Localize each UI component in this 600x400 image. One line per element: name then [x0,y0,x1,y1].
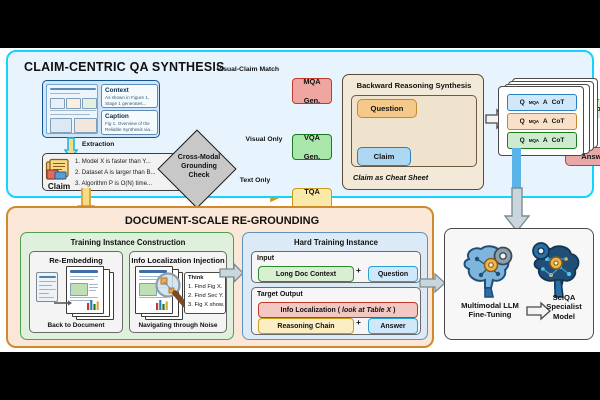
extraction-label: Extraction [82,141,114,148]
re-embedding-title: Re-Embedding [30,256,122,265]
source-document-card: Context As shown in Figure 1, Stage 1 ge… [42,80,160,138]
qa-to-model-arrow-icon [504,188,530,232]
document-thumbnail [46,84,98,134]
qa-stack-front-sheet: QMQA A CoT QMQA A CoT QMQA A CoT [498,86,584,156]
target-output-box: Target Output Info Localization ( look a… [251,287,421,335]
qa-q-subscript: MQA [529,100,539,105]
chip-answer[interactable]: Answer [368,318,418,334]
hard-training-instance-box: Hard Training Instance Input Long Doc Co… [242,232,428,340]
chip-info-localization[interactable]: Info Localization ( look at Table X ) [258,302,418,318]
model-left-line1: Multimodal LLM [461,301,519,310]
re-embedding-link-arrow [54,300,76,306]
chip-long-doc-context[interactable]: Long Doc Context [258,266,354,282]
cross-modal-grounding-check: Cross-Modal Grounding Check [160,132,238,210]
mqa-line2: Gen. [303,96,320,105]
training-instance-construction-box: Training Instance Construction Re-Embedd… [20,232,234,340]
decision-line-3: Check [188,172,209,179]
qa-a: A [543,137,548,144]
qa-cot: CoT [552,99,565,106]
training-instance-construction-title: Training Instance Construction [21,238,235,247]
tic-to-hti-arrow-icon [220,264,244,282]
think-heading: Think [188,275,203,281]
edge-label-text-only: Text Only [226,177,284,185]
think-step: 2. Find Sec Y. [188,293,224,299]
claim-item: 2. Dataset A is larger than B... [75,169,156,176]
panel-document-scale-regrounding: DOCUMENT-SCALE RE-GROUNDING Training Ins… [6,206,434,348]
re-embedding-card: Re-Embedding [29,251,123,333]
claim-label: Claim [44,182,74,191]
qa-q: Q [520,118,525,125]
chip-question[interactable]: Question [368,266,418,282]
backward-reasoning-synthesis-box: Backward Reasoning Synthesis Question Co… [342,74,484,190]
info-localization-tail: ) [393,307,395,314]
caption-text: Fig 1. Overview of the Reliable Synthesi… [105,121,156,133]
caption-box: Caption Fig 1. Overview of the Reliable … [101,110,158,135]
qa-row[interactable]: QMQA A CoT [507,94,577,111]
info-localization-plain: Info Localization ( [281,307,341,314]
edge-label-visual-claim-match: Visual-Claim Match [206,66,290,74]
panel2-title: DOCUMENT-SCALE RE-GROUNDING [8,215,436,227]
figure-canvas: CLAIM-CENTRIC QA SYNTHESIS Context As sh… [0,0,600,400]
node-claim[interactable]: Claim [357,147,411,166]
think-step: 3. Fig X show. [188,302,224,308]
input-label: Input [257,255,274,262]
qa-q: Q [520,99,525,106]
model-left-line2: Fine-Tuning [469,310,512,319]
target-output-label: Target Output [257,291,303,298]
context-box: Context As shown in Figure 1, Stage 1 ge… [101,84,158,108]
qa-q-subscript: MQA [529,138,539,143]
mqa-gen-box[interactable]: MQAGen. [292,78,332,104]
info-localization-italic: look at Table X [342,307,391,314]
backward-reasoning-title: Backward Reasoning Synthesis [343,81,485,90]
decision-line-1: Cross-Modal [178,154,220,161]
claim-item: 3. Algorithm P is O(N) time... [75,180,152,187]
regrounding-to-model-arrow-icon [420,274,446,292]
claim-stack-icon [45,158,71,182]
edge-label-visual-only: Visual Only [240,136,288,144]
input-box: Input Long Doc Context + Question [251,251,421,283]
qa-cot: CoT [552,137,565,144]
panel-model: Multimodal LLM Fine-Tuning SciQA [444,228,594,340]
info-localization-injection-card: Info Localization Injection [129,251,227,333]
sciqa-specialist-label: SciQA Specialist Model [535,293,593,321]
qa-cot: CoT [552,118,565,125]
context-heading: Context [105,87,129,94]
mqa-line1: MQA [303,77,320,86]
qa-row[interactable]: QMQA A CoT [507,132,577,149]
info-localization-footer: Navigating through Noise [130,322,226,329]
context-text: As shown in Figure 1, Stage 1 generates.… [105,95,156,107]
claim-item: 1. Model X is faster than Y... [75,158,151,165]
vqa-gen-box[interactable]: VQAGen. [292,134,332,160]
hard-training-instance-title: Hard Training Instance [243,238,429,247]
model-right-line1: SciQA [553,293,576,302]
chip-reasoning-chain[interactable]: Reasoning Chain [258,318,354,334]
vqa-line1: VQA [304,133,320,142]
re-embedding-footer: Back to Document [30,322,122,329]
qa-triplet-stack: QMQA A CoT QMQA A CoT QMQA A CoT [498,78,596,154]
target-plus: + [356,317,361,327]
caption-heading: Caption [105,113,129,120]
embedding-index-icon [36,272,58,302]
info-localization-title: Info Localization Injection [130,256,226,265]
qa-q: Q [520,137,525,144]
decision-line-2: Grounding [181,163,217,170]
qa-row[interactable]: QMQA A CoT [507,113,577,130]
model-right-line3: Model [553,312,575,321]
multimodal-llm-label: Multimodal LLM Fine-Tuning [447,301,533,320]
vqa-line2: Gen. [304,152,320,161]
qa-q-subscript: MQA [529,119,539,124]
model-right-line2: Specialist [546,302,581,311]
tqa-line1: TQA [304,187,320,196]
panel1-title: CLAIM-CENTRIC QA SYNTHESIS [24,60,225,74]
backward-reasoning-footer: Claim as Cheat Sheet [353,173,428,182]
qa-a: A [543,99,548,106]
panel-claim-centric-qa-synthesis: CLAIM-CENTRIC QA SYNTHESIS Context As sh… [6,50,594,198]
qa-a: A [543,118,548,125]
figure-stage: CLAIM-CENTRIC QA SYNTHESIS Context As sh… [0,48,600,352]
input-plus: + [356,265,361,275]
node-question[interactable]: Question [357,99,417,118]
think-step: 1. Find Fig X. [188,284,222,290]
